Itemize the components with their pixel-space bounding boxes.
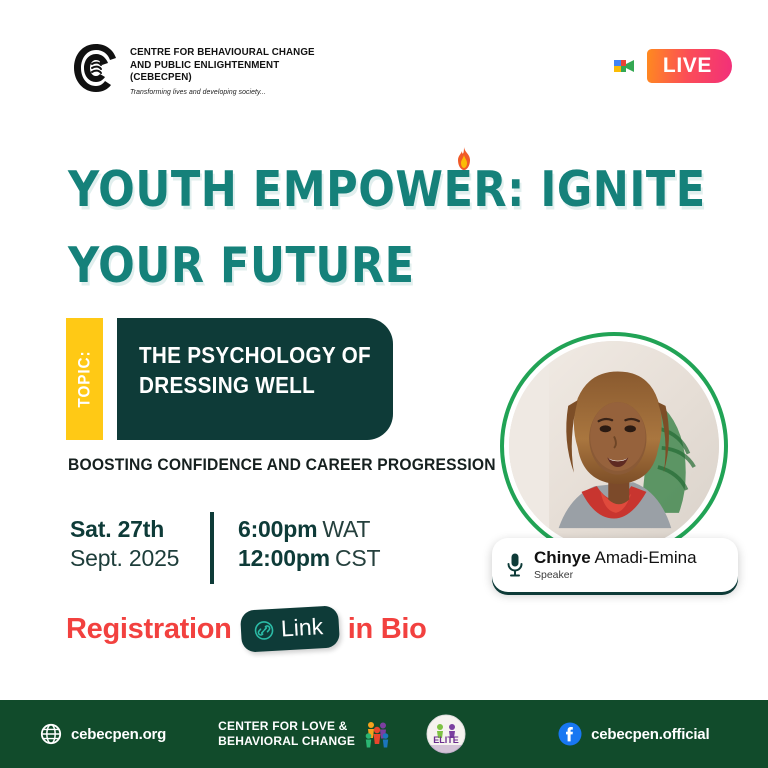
website-item[interactable]: cebecpen.org [40,723,166,745]
topic-line-1: THE PSYCHOLOGY OF [139,340,346,370]
globe-icon [40,723,62,745]
topic-block: TOPIC: THE PSYCHOLOGY OF DRESSING WELL [66,318,393,440]
time-row: 6:00pmWAT [238,515,380,544]
cebecpen-logo-mark [72,42,120,94]
registration-line: Registration Link in Bio [66,608,427,650]
speaker-full-name: Chinye Amadi-Emina [534,548,697,568]
brand-text: CENTRE FOR BEHAVIOURAL CHANGE AND PUBLIC… [130,42,329,97]
facebook-item[interactable]: cebecpen.official [558,722,709,746]
time-value-1: 6:00pm [238,516,317,542]
header: CENTRE FOR BEHAVIOURAL CHANGE AND PUBLIC… [0,40,768,110]
partner-item: CENTER FOR LOVE & BEHAVIORAL CHANGE [218,719,390,749]
brand-line-1: CENTRE FOR BEHAVIOURAL CHANGE [130,46,315,59]
partner-line-1: CENTER FOR LOVE & [218,719,355,734]
title-block: YOUTH EMPOWER: IGNITE YOUR FUTURE [68,158,588,292]
speaker-last-name: Amadi-Emina [594,548,696,567]
microphone-icon [506,552,524,578]
topic-tab-label: TOPIC: [75,351,95,408]
speaker-role: Speaker [534,568,697,582]
speaker-name-text: Chinye Amadi-Emina Speaker [534,548,697,582]
subtitle: BOOSTING CONFIDENCE AND CAREER PROGRESSI… [68,455,496,475]
time-value-2: 12:00pm [238,545,330,571]
speaker-portrait-illustration [509,341,719,551]
time-zone-2: CST [335,545,380,571]
speaker-name-card: Chinye Amadi-Emina Speaker [492,538,738,592]
elite-badge-logo: ELITE [426,714,466,754]
registration-link-button[interactable]: Link [239,605,339,652]
date-column: Sat. 27th Sept. 2025 [70,512,210,584]
brand-logo: CENTRE FOR BEHAVIOURAL CHANGE AND PUBLIC… [72,42,329,97]
svg-text:ELITE: ELITE [433,735,459,745]
registration-suffix: in Bio [348,613,427,646]
people-group-logo [364,720,390,748]
live-label: LIVE [647,49,732,83]
title-line-2: YOUR FUTURE [68,234,578,299]
time-row: 12:00pmCST [238,544,380,573]
schedule-block: Sat. 27th Sept. 2025 6:00pmWAT 12:00pmCS… [70,512,380,584]
live-badge: LIVE [612,49,732,83]
google-meet-camera-icon [612,55,639,77]
facebook-handle-label: cebecpen.official [591,726,709,743]
topic-line-2: DRESSING WELL [139,370,346,400]
event-date-month: Sept. 2025 [70,543,210,573]
brand-line-2: AND PUBLIC ENLIGHTENMENT [130,59,315,72]
footer-bar: cebecpen.org CENTER FOR LOVE & BEHAVIORA… [0,700,768,768]
time-zone-1: WAT [322,516,370,542]
footer-content: cebecpen.org CENTER FOR LOVE & BEHAVIORA… [0,714,768,754]
title-line-1: YOUTH EMPOWER: IGNITE [68,158,578,223]
partner-line-2: BEHAVIORAL CHANGE [218,734,355,749]
schedule-divider [210,512,214,584]
speaker-photo-ring [500,332,728,560]
brand-line-3: (CEBECPEN) [130,71,315,84]
event-date-day: Sat. 27th [70,515,210,543]
flame-icon [453,146,475,174]
link-chain-icon [253,619,274,640]
website-label: cebecpen.org [71,726,166,743]
event-flyer: CENTRE FOR BEHAVIOURAL CHANGE AND PUBLIC… [0,0,768,768]
speaker-card: Chinye Amadi-Emina Speaker [492,332,738,560]
facebook-icon [558,722,582,746]
partner-name: CENTER FOR LOVE & BEHAVIORAL CHANGE [218,719,355,749]
brand-tagline: Transforming lives and developing societ… [130,86,319,97]
speaker-first-name: Chinye [534,548,591,567]
topic-box: THE PSYCHOLOGY OF DRESSING WELL [117,318,393,440]
time-column: 6:00pmWAT 12:00pmCST [238,512,380,584]
registration-prefix: Registration [66,613,232,646]
registration-link-label: Link [280,613,324,642]
topic-tab: TOPIC: [66,318,103,440]
speaker-photo [509,341,719,551]
